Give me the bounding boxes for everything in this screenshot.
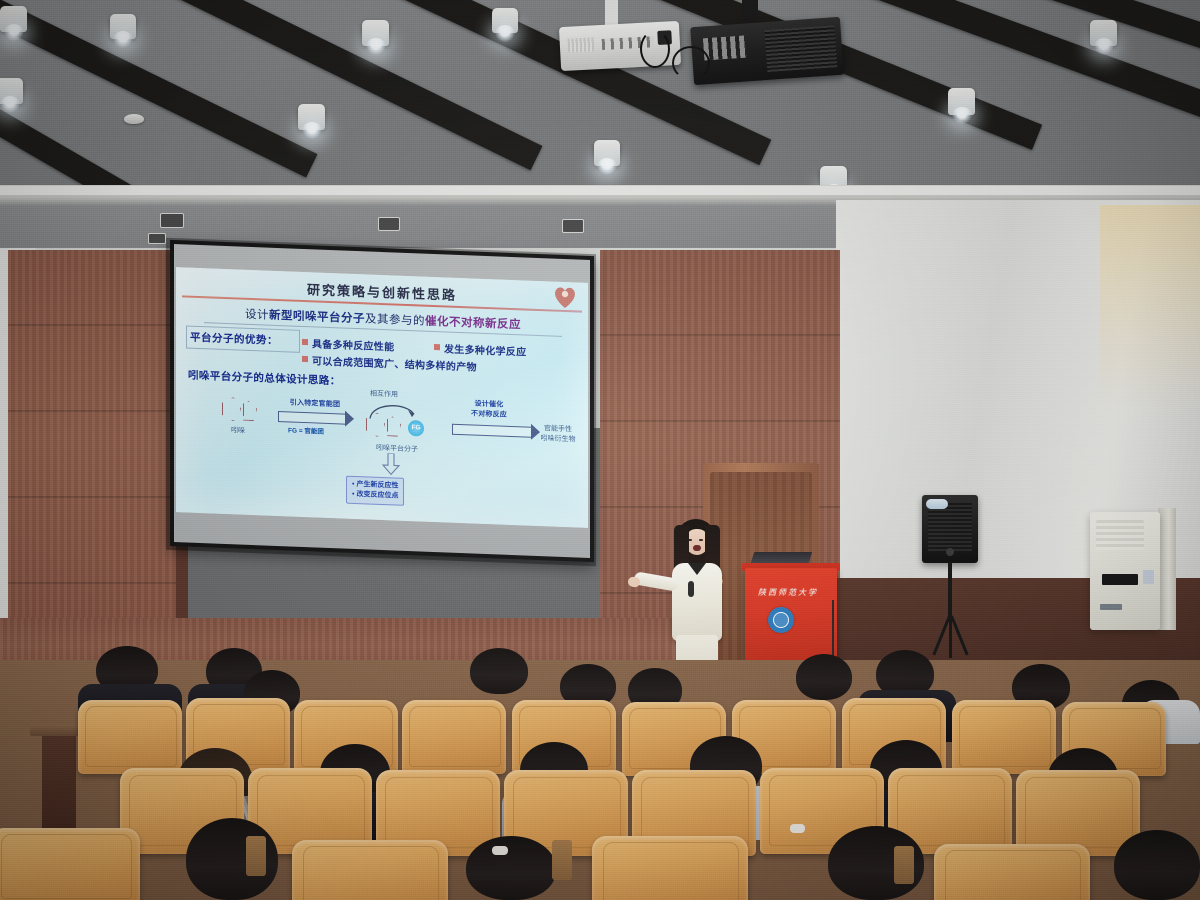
subtitle-lead: 设计 [245, 309, 269, 322]
speaker-port [946, 548, 954, 556]
audience-head [470, 648, 528, 694]
presenter-mouth [693, 545, 701, 551]
wall-light-glow [1100, 205, 1200, 415]
hair-clip-icon [492, 846, 508, 855]
handheld-microphone [688, 581, 694, 597]
subtitle-highlight-1: 新型吲哚平台分子 [269, 310, 365, 326]
audience-head [796, 654, 852, 700]
auditorium-seat[interactable] [934, 844, 1090, 900]
auditorium-seat[interactable] [78, 700, 182, 774]
ceiling-spotlight [594, 140, 620, 166]
hair-clip-icon [790, 824, 805, 833]
auditorium-seat[interactable] [0, 828, 140, 900]
fg-tag: FG [408, 420, 424, 437]
ceiling-spotlight [948, 88, 975, 115]
down-arrow-icon [382, 453, 400, 476]
ceiling-projector-black [690, 17, 844, 85]
fg-definition: FG = 官能团 [284, 422, 328, 438]
lecture-hall-photo: 研究策略与创新性思路 设计新型吲哚平台分子及其参与的催化不对称新反应 平台分子的… [0, 0, 1200, 900]
subtitle-middle: 及其参与的 [365, 313, 425, 327]
recessed-fixture [160, 213, 184, 228]
university-logo-icon [552, 286, 578, 310]
recessed-fixture [378, 217, 400, 231]
audience-head [1114, 830, 1200, 900]
projector-grill [765, 25, 838, 72]
recessed-fixture [562, 219, 584, 233]
ac-air-outlet [1102, 574, 1138, 585]
presenter-eye [699, 539, 703, 541]
arrow1-top-label: 引入特定官能团 [278, 397, 352, 410]
ceiling-spotlight [1090, 20, 1117, 46]
subtitle-highlight-2: 催化不对称新反应 [425, 316, 521, 332]
ceiling-spotlight [492, 8, 518, 33]
soffit-lip [0, 186, 1200, 195]
reaction-scheme-diagram: 吲哚 引入特定官能团 FG = 官能团 相互作用 FG 吲哚平台分子 设计催化 … [186, 385, 578, 520]
seat-armrest [894, 846, 914, 884]
ac-brand-logo [1100, 604, 1122, 610]
end-label-2: 吲哚衍生物 [534, 433, 582, 445]
ac-control-panel[interactable] [1143, 570, 1154, 584]
university-emblem-icon [768, 607, 794, 633]
projector-keypad [703, 36, 746, 61]
ceiling-spotlight [0, 6, 27, 32]
speaker-stand-leg [949, 616, 952, 658]
ac-side-panel [1158, 508, 1176, 630]
start-label: 吲哚 [216, 425, 260, 437]
speaker-stand-pole [948, 562, 952, 618]
outcome-box: 产生新反应性 改变反应位点 [346, 476, 404, 506]
speaker-badge [926, 499, 948, 509]
slide-bullet: 发生多种化学反应 [444, 340, 526, 358]
arrow2-bottom-label: 不对称反应 [454, 408, 524, 421]
auditorium-seat[interactable] [292, 840, 448, 900]
seat-armrest [246, 836, 266, 876]
slide-bullet: 具备多种反应性能 [312, 335, 394, 353]
reaction-arrow-2 [452, 424, 531, 438]
presenter [662, 519, 732, 671]
auditorium-seat[interactable] [952, 700, 1056, 774]
recessed-fixture [148, 233, 166, 244]
projector-vents [568, 37, 595, 52]
auditorium-seat[interactable] [402, 700, 506, 774]
microphone-stand [832, 600, 834, 660]
ac-vent [1096, 520, 1144, 550]
podium-calligraphy: 陕西师范大学 [752, 587, 824, 598]
smoke-detector-icon [124, 114, 144, 124]
audience-head [466, 836, 556, 900]
ceiling-spotlight [362, 20, 389, 46]
outcome-item: 改变反应位点 [352, 490, 398, 502]
wood-panel-left [8, 250, 176, 670]
auditorium-seat[interactable] [592, 836, 748, 900]
presentation-slide: 研究策略与创新性思路 设计新型吲哚平台分子及其参与的催化不对称新反应 平台分子的… [176, 267, 588, 528]
ceiling-spotlight [110, 14, 136, 39]
seat-armrest [552, 840, 572, 880]
ceiling-spotlight [298, 104, 325, 130]
design-heading: 吲哚平台分子的总体设计思路： [188, 368, 341, 389]
projector-cable [640, 30, 670, 68]
projector-cable [672, 46, 710, 80]
ceiling-spotlight [0, 78, 23, 104]
side-desk [42, 732, 76, 840]
